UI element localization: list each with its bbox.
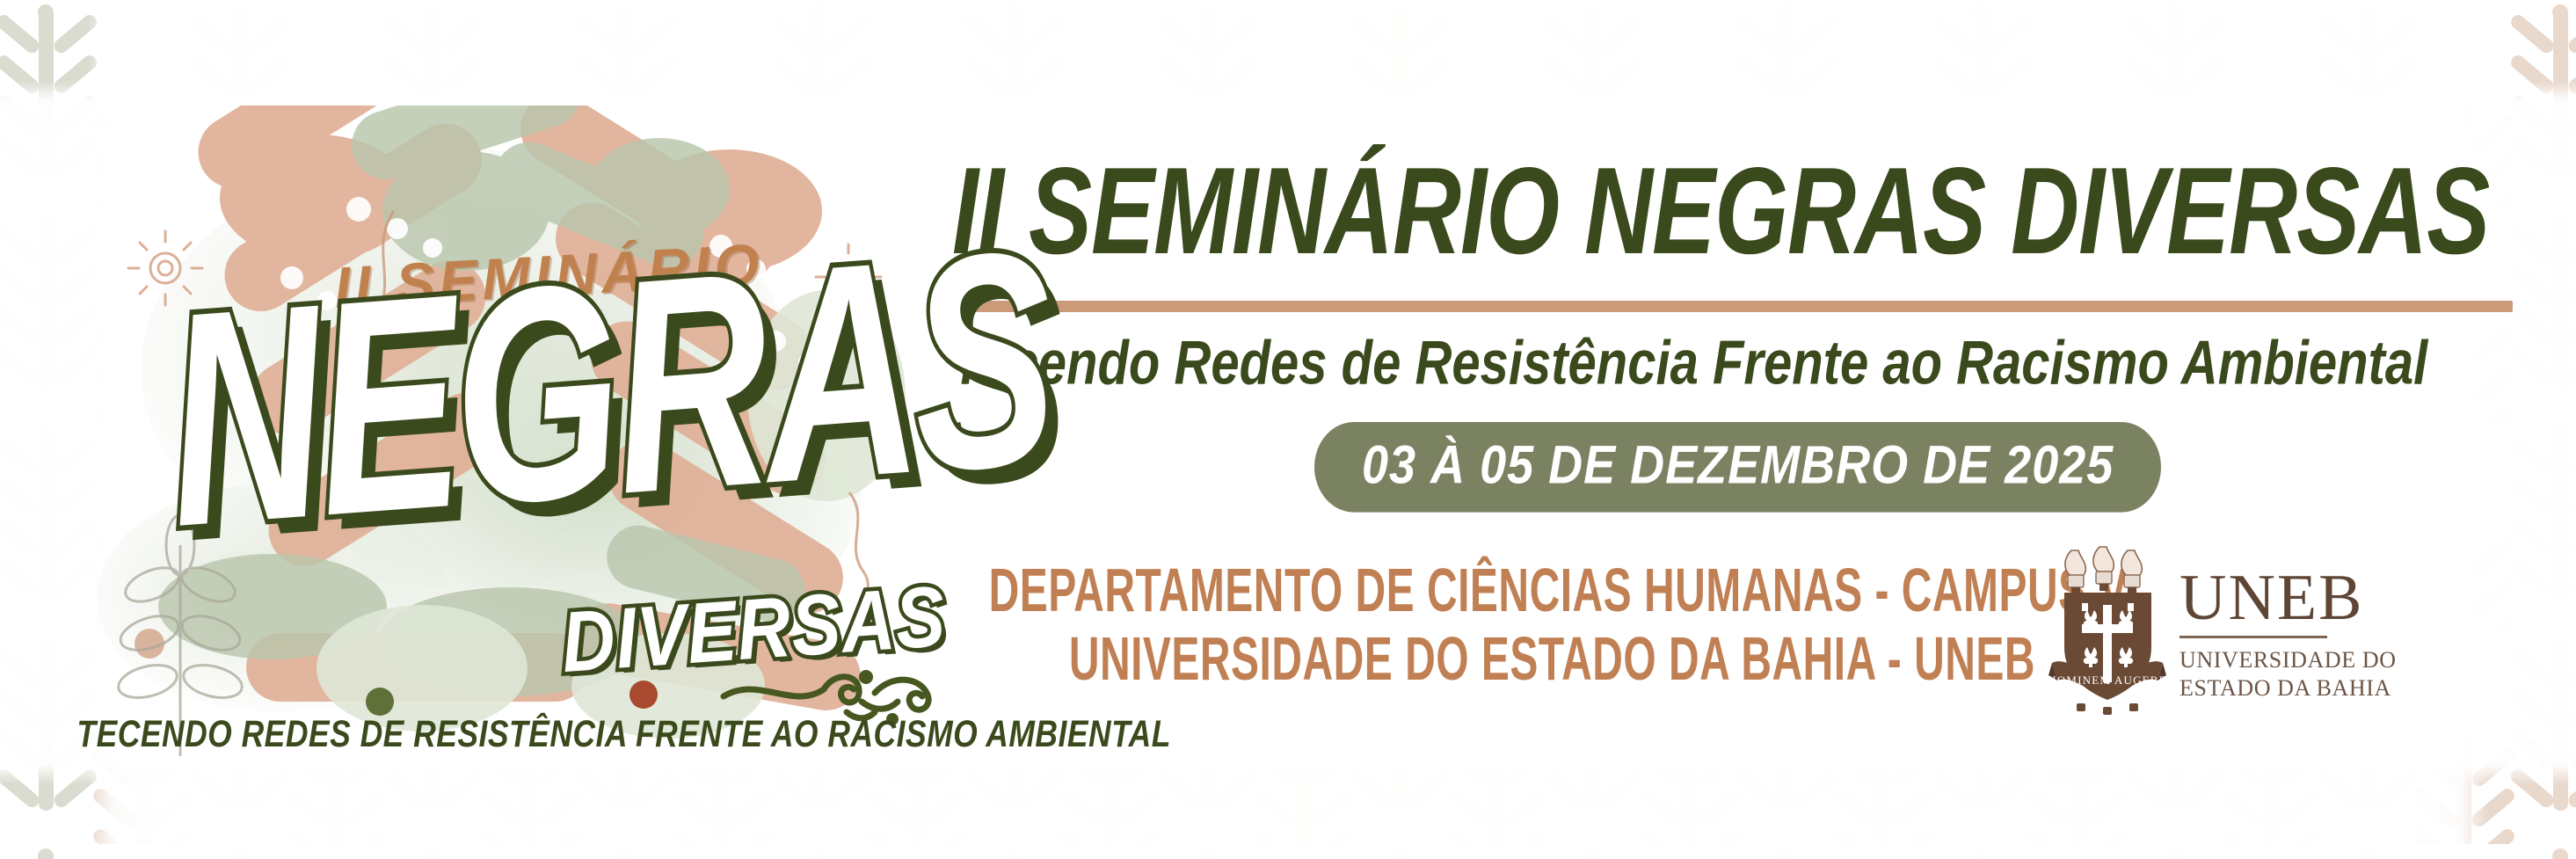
organizer-university: UNIVERSIDADE DO ESTADO DA BAHIA - UNEB (989, 612, 2035, 708)
uneb-acronym: UNEB (2179, 567, 2363, 629)
uneb-logo: HOMINEM AUGERE UNEB UNIVERSIDADE DO ESTA… (2048, 536, 2418, 725)
uneb-wordmark: UNEB UNIVERSIDADE DO ESTADO DA BAHIA (2179, 560, 2397, 702)
uneb-motto: HOMINEM AUGERE (2048, 673, 2167, 687)
banner-content: II SEMINÁRIO NEGRAS DIVERSAS TECENDO (0, 0, 2576, 859)
uneb-name-line2: ESTADO DA BAHIA (2179, 674, 2391, 702)
accent-dot (135, 629, 164, 659)
date-badge: 03 À 05 DE DEZEMBRO DE 2025 (1314, 422, 2161, 513)
headline-block: II SEMINÁRIO NEGRAS DIVERSAS Tecendo Red… (945, 97, 2519, 765)
page-subtitle: Tecendo Redes de Resistência Frente ao R… (952, 327, 2517, 399)
logo-main-word: NEGRAS (158, 229, 888, 560)
event-banner: II SEMINÁRIO NEGRAS DIVERSAS TECENDO (0, 0, 2576, 859)
uneb-crest-icon: HOMINEM AUGERE (2048, 543, 2167, 719)
uneb-divider (2179, 636, 2327, 638)
logo-tagline: TECENDO REDES DE RESISTÊNCIA FRENTE AO R… (76, 712, 934, 756)
title-divider (952, 301, 2513, 312)
organizer-block: DEPARTAMENTO DE CIÊNCIAS HUMANAS - CAMPU… (945, 543, 2035, 680)
uneb-name-line1: UNIVERSIDADE DO (2179, 646, 2397, 674)
event-logo-badge: II SEMINÁRIO NEGRAS DIVERSAS TECENDO (53, 106, 941, 774)
page-title: II SEMINÁRIO NEGRAS DIVERSAS (952, 139, 2517, 282)
